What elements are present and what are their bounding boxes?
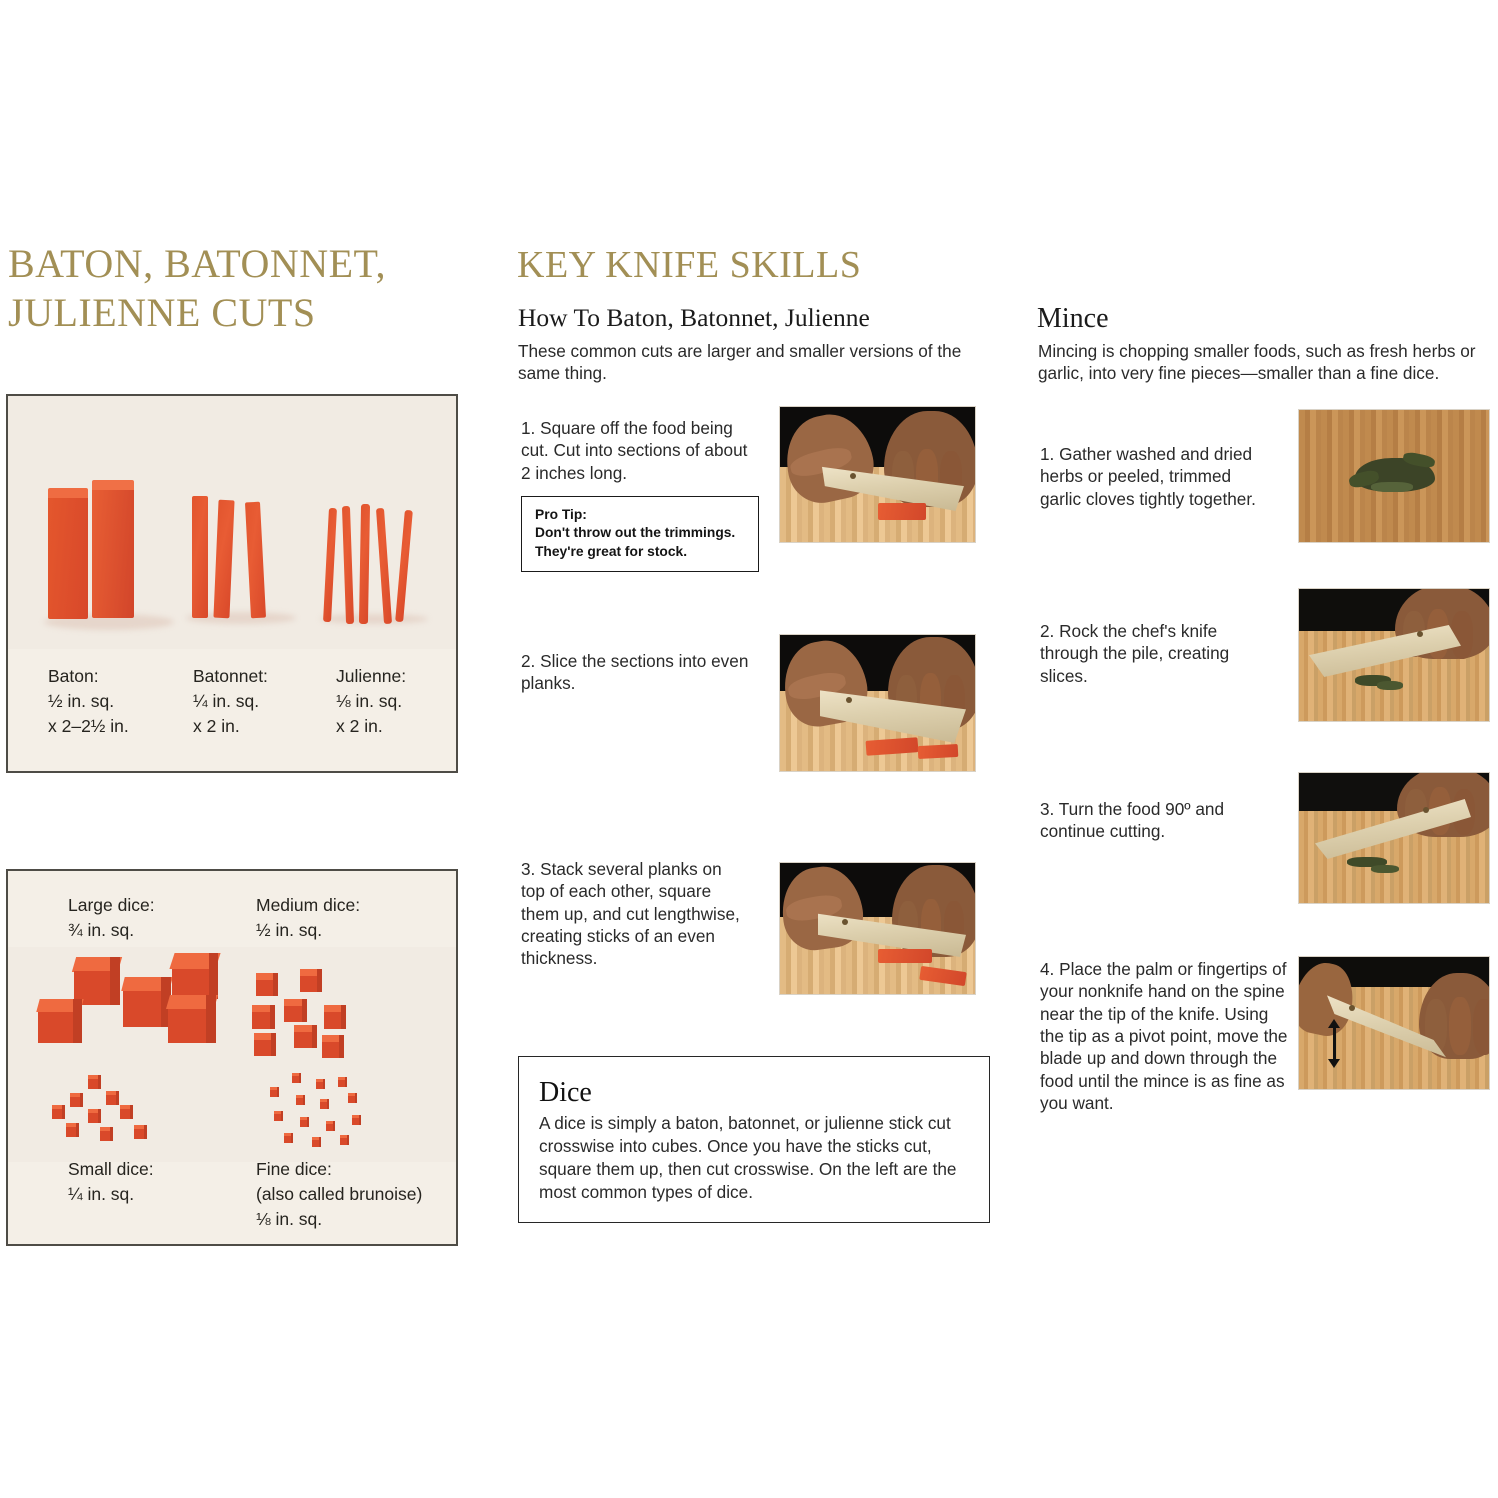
dice-heading: Dice [539, 1077, 971, 1109]
left-section-title: BATON, BATONNET, JULIENNE CUTS [8, 240, 478, 338]
label-small-dice: Small dice: ¼ in. sq. [68, 1157, 154, 1207]
pro-tip-body: Don't throw out the trimmings. They're g… [535, 524, 748, 561]
baton-step-3: 3. Stack several planks on top of each o… [521, 858, 745, 970]
pivot-arrow-icon [1333, 1027, 1336, 1061]
label-fine-dice: Fine dice: (also called brunoise) ⅛ in. … [256, 1157, 422, 1232]
label-large-dice: Large dice: ¾ in. sq. [68, 893, 155, 943]
page-root: BATON, BATONNET, JULIENNE CUTS Baton: ½ … [0, 0, 1498, 1498]
mince-step-4: 4. Place the palm or fingertips of your … [1040, 958, 1290, 1115]
mince-step-1: 1. Gather washed and dried herbs or peel… [1040, 443, 1270, 510]
pro-tip-heading: Pro Tip: [535, 506, 748, 524]
label-julienne: Julienne: ⅛ in. sq. x 2 in. [336, 664, 406, 739]
mince-step-3: 3. Turn the food 90º and continue cuttin… [1040, 798, 1270, 843]
photo-mince-step-2 [1298, 588, 1490, 722]
mince-step-2: 2. Rock the chef's knife through the pil… [1040, 620, 1270, 687]
how-to-intro: These common cuts are larger and smaller… [518, 340, 988, 385]
photo-baton-step-2 [779, 634, 976, 772]
label-medium-dice: Medium dice: ½ in. sq. [256, 893, 360, 943]
carrot-sticks-photo-panel: Baton: ½ in. sq. x 2–2½ in. Batonnet: ¼ … [6, 394, 458, 773]
carrot-dice-photo [8, 947, 456, 1162]
photo-mince-step-4 [1298, 956, 1490, 1090]
carrot-sticks-photo [8, 396, 456, 649]
baton-step-2: 2. Slice the sections into even planks. [521, 650, 753, 695]
photo-mince-step-1 [1298, 409, 1490, 543]
baton-step-1: 1. Square off the food being cut. Cut in… [521, 417, 753, 484]
photo-baton-step-3 [779, 862, 976, 995]
dice-callout-box: Dice A dice is simply a baton, batonnet,… [518, 1056, 990, 1223]
mince-intro: Mincing is chopping smaller foods, such … [1038, 340, 1488, 385]
dice-body: A dice is simply a baton, batonnet, or j… [539, 1112, 971, 1204]
photo-mince-step-3 [1298, 772, 1490, 904]
how-to-subtitle: How To Baton, Batonnet, Julienne [518, 303, 870, 333]
carrot-dice-photo-panel: Large dice: ¾ in. sq. Medium dice: ½ in.… [6, 869, 458, 1246]
pro-tip-box: Pro Tip: Don't throw out the trimmings. … [521, 496, 759, 572]
label-batonnet: Batonnet: ¼ in. sq. x 2 in. [193, 664, 268, 739]
key-knife-skills-title: KEY KNIFE SKILLS [517, 243, 861, 287]
mince-title: Mince [1037, 303, 1109, 335]
photo-baton-step-1 [779, 406, 976, 543]
label-baton: Baton: ½ in. sq. x 2–2½ in. [48, 664, 129, 739]
